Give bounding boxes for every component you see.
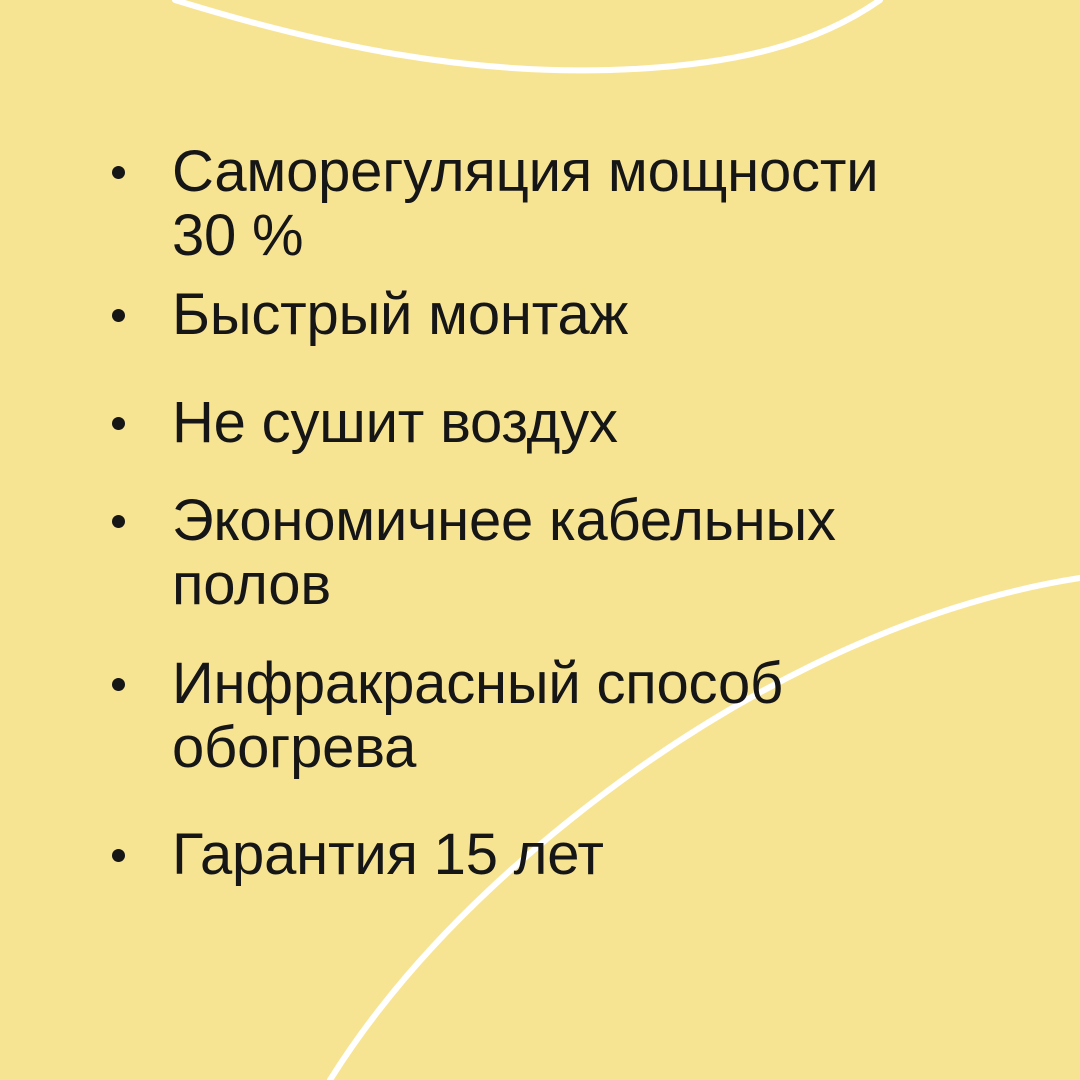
list-item: Быстрый монтаж bbox=[112, 283, 992, 347]
list-item: Не сушит воздух bbox=[112, 391, 992, 455]
bullet-dot-icon bbox=[112, 140, 172, 179]
list-item-label: Быстрый монтаж bbox=[172, 283, 992, 347]
feature-bullet-list: Саморегуляция мощности 30 % Быстрый монт… bbox=[0, 0, 1080, 1080]
bullet-dot-icon bbox=[112, 391, 172, 430]
list-item: Гарантия 15 лет bbox=[112, 823, 992, 887]
list-item: Инфракрасный способ обогрева bbox=[112, 652, 992, 780]
promo-slide: Саморегуляция мощности 30 % Быстрый монт… bbox=[0, 0, 1080, 1080]
bullet-dot-icon bbox=[112, 489, 172, 528]
list-item-label: Саморегуляция мощности 30 % bbox=[172, 140, 992, 268]
bullet-dot-icon bbox=[112, 283, 172, 322]
list-item: Экономичнее кабельных полов bbox=[112, 489, 992, 617]
bullet-dot-icon bbox=[112, 652, 172, 691]
bullet-dot-icon bbox=[112, 823, 172, 862]
list-item-label: Не сушит воздух bbox=[172, 391, 992, 455]
list-item-label: Экономичнее кабельных полов bbox=[172, 489, 992, 617]
list-item: Саморегуляция мощности 30 % bbox=[112, 140, 992, 268]
list-item-label: Инфракрасный способ обогрева bbox=[172, 652, 992, 780]
list-item-label: Гарантия 15 лет bbox=[172, 823, 992, 887]
